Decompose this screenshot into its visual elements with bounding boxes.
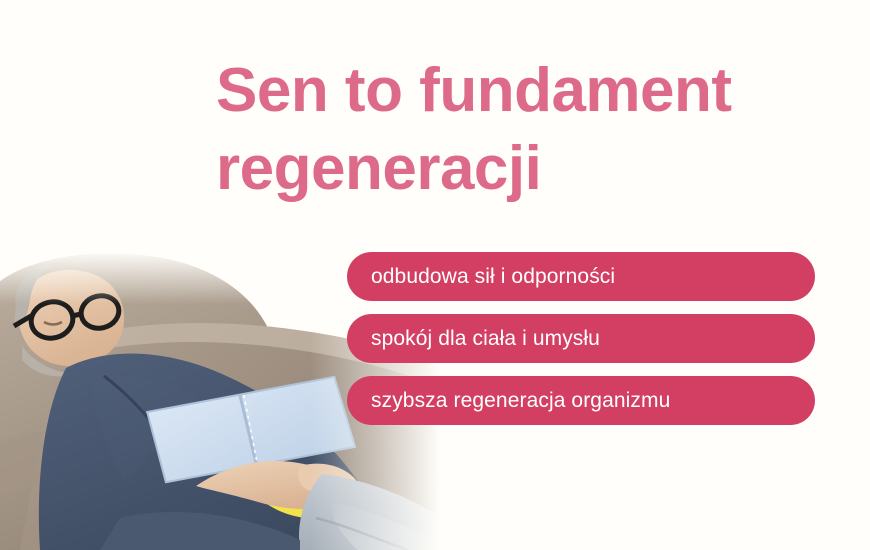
shirt-placket [104, 376, 172, 450]
pants-seam [316, 518, 408, 550]
promo-banner: Sen to fundament regeneracji odbudowa si… [0, 0, 870, 550]
page-title: Sen to fundament regeneracji [216, 52, 840, 208]
gray-pants [299, 474, 500, 550]
benefit-pill-1: odbudowa sił i odporności [347, 252, 815, 301]
man-head [18, 270, 124, 366]
man-hair [14, 264, 54, 327]
benefit-label: szybsza regeneracja organizmu [371, 389, 670, 413]
benefit-label: odbudowa sił i odporności [371, 265, 615, 289]
yellow-tshirt-hem [236, 450, 322, 518]
benefit-pill-2: spokój dla ciała i umysłu [347, 314, 815, 363]
man-beard [22, 346, 74, 376]
man-arm [196, 461, 356, 509]
yellow-tshirt [96, 364, 164, 397]
open-book [146, 375, 357, 483]
shirt-lower-fold [100, 512, 300, 550]
navy-shirt [39, 354, 366, 550]
pants-highlight [332, 502, 458, 550]
shirt-fold [92, 376, 196, 480]
sofa-cushion-crease [0, 431, 104, 500]
closed-eye [44, 322, 62, 325]
man-hand [298, 464, 356, 493]
benefit-label: spokój dla ciała i umysłu [371, 327, 600, 351]
sofa-backrest [0, 253, 268, 550]
benefit-pill-3: szybsza regeneracja organizmu [347, 376, 815, 425]
glasses-icon [14, 292, 122, 343]
benefits-list: odbudowa sił i odporności spokój dla cia… [347, 252, 815, 425]
